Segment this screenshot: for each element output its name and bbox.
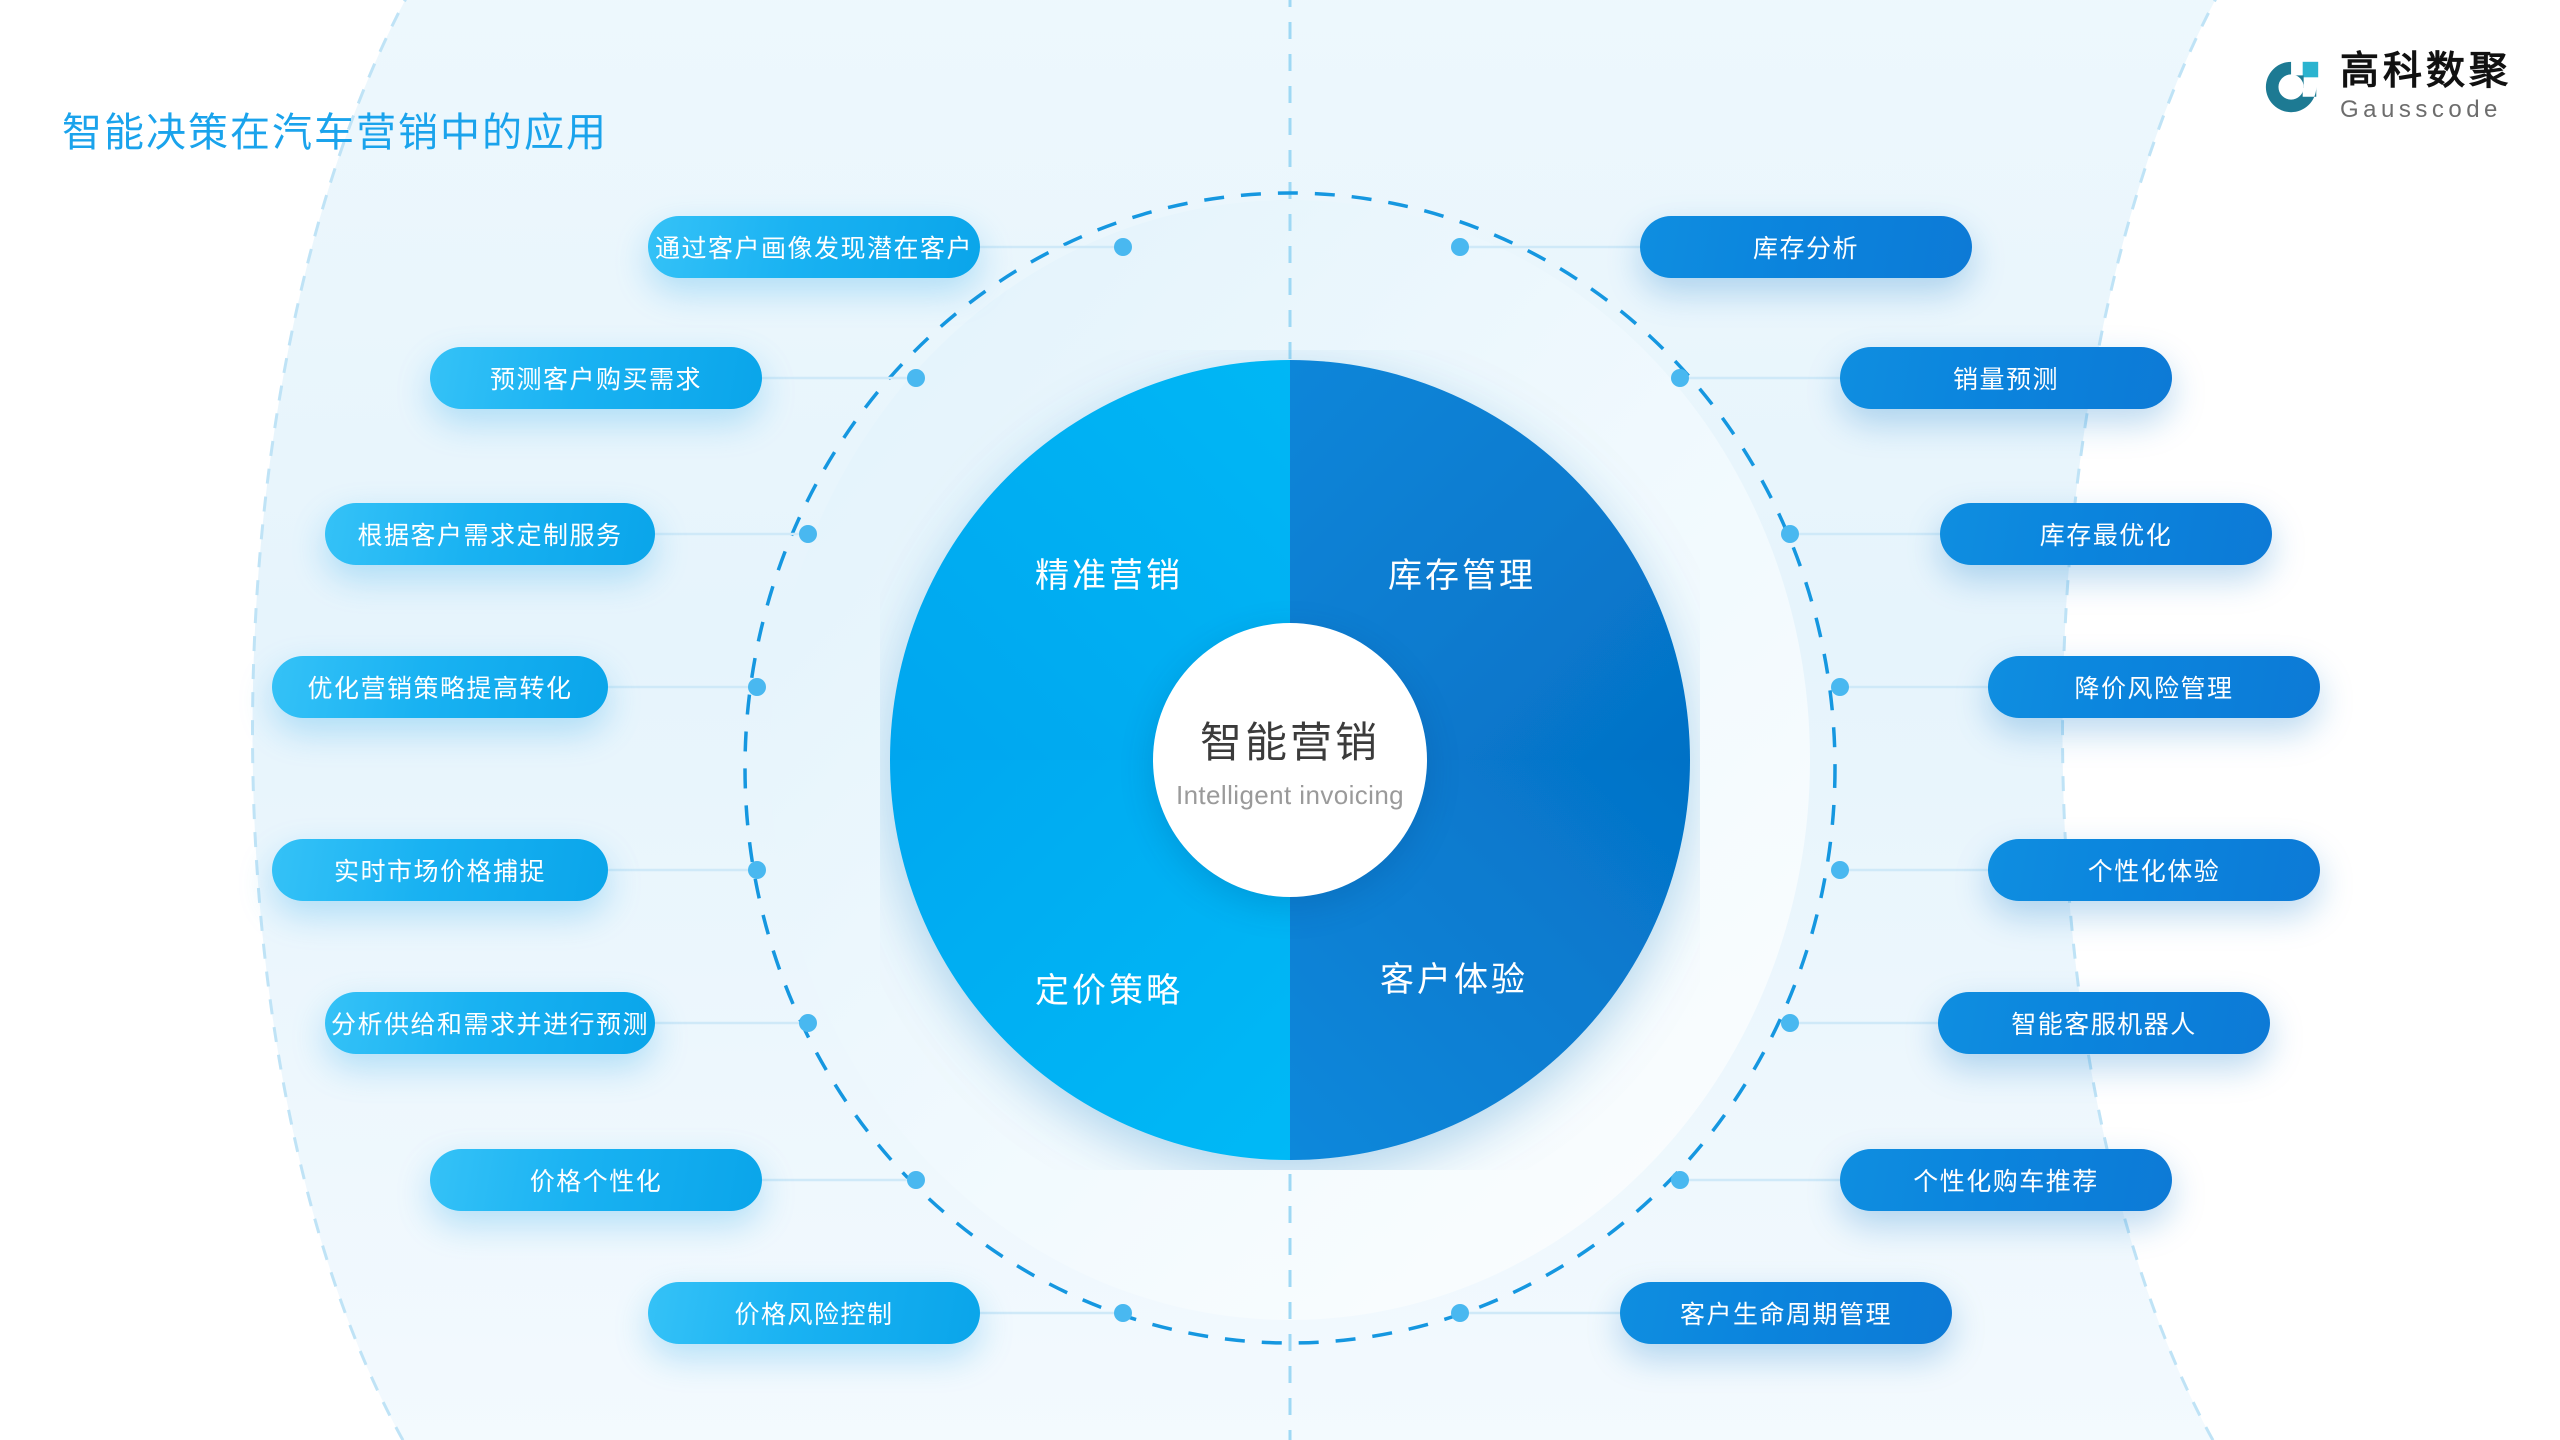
connector-dot (1451, 238, 1469, 256)
right-pill-7[interactable]: 个性化购车推荐 (1840, 1149, 2172, 1211)
center-hub: 智能营销 Intelligent invoicing (1153, 623, 1427, 897)
right-pill-8[interactable]: 客户生命周期管理 (1620, 1282, 1952, 1344)
logo-text-en: Gausscode (2340, 98, 2512, 122)
left-pill-6[interactable]: 分析供给和需求并进行预测 (325, 992, 655, 1054)
logo-text-cn: 高科数聚 (2340, 52, 2512, 91)
connector-dot (799, 1014, 817, 1032)
center-title: 智能营销 (1200, 709, 1380, 770)
brand-logo: 高科数聚 Gausscode (2262, 52, 2512, 122)
connector-dot (907, 1171, 925, 1189)
center-subtitle: Intelligent invoicing (1176, 780, 1404, 811)
quadrant-label-top-right: 库存管理 (1388, 548, 1536, 597)
left-pill-1[interactable]: 通过客户画像发现潜在客户 (648, 216, 980, 278)
connector-dot (748, 861, 766, 879)
connector-dot (1114, 1304, 1132, 1322)
connector-dot (799, 525, 817, 543)
left-pill-8[interactable]: 价格风险控制 (648, 1282, 980, 1344)
right-pill-4[interactable]: 降价风险管理 (1988, 656, 2320, 718)
left-pill-5[interactable]: 实时市场价格捕捉 (272, 839, 608, 901)
connector-dot (748, 678, 766, 696)
right-pill-1[interactable]: 库存分析 (1640, 216, 1972, 278)
right-pill-6[interactable]: 智能客服机器人 (1938, 992, 2270, 1054)
connector-dot (1781, 525, 1799, 543)
connector-dot (1831, 678, 1849, 696)
left-pill-7[interactable]: 价格个性化 (430, 1149, 762, 1211)
connector-dot (1114, 238, 1132, 256)
quadrant-label-bottom-left: 定价策略 (1035, 963, 1183, 1012)
connector-dot (1831, 861, 1849, 879)
quadrant-label-bottom-right: 客户体验 (1380, 952, 1528, 1001)
slide-canvas: 精准营销 库存管理 定价策略 客户体验 智能营销 Intelligent inv… (0, 0, 2560, 1440)
left-pill-2[interactable]: 预测客户购买需求 (430, 347, 762, 409)
page-title: 智能决策在汽车营销中的应用 (62, 100, 608, 158)
connector-dot (1671, 1171, 1689, 1189)
quadrant-label-top-left: 精准营销 (1035, 548, 1183, 597)
left-pill-3[interactable]: 根据客户需求定制服务 (325, 503, 655, 565)
left-pill-4[interactable]: 优化营销策略提高转化 (272, 656, 608, 718)
right-pill-3[interactable]: 库存最优化 (1940, 503, 2272, 565)
gausscode-logo-icon (2262, 56, 2324, 118)
right-pill-2[interactable]: 销量预测 (1840, 347, 2172, 409)
connector-dot (1451, 1304, 1469, 1322)
right-pill-5[interactable]: 个性化体验 (1988, 839, 2320, 901)
connector-dot (1781, 1014, 1799, 1032)
